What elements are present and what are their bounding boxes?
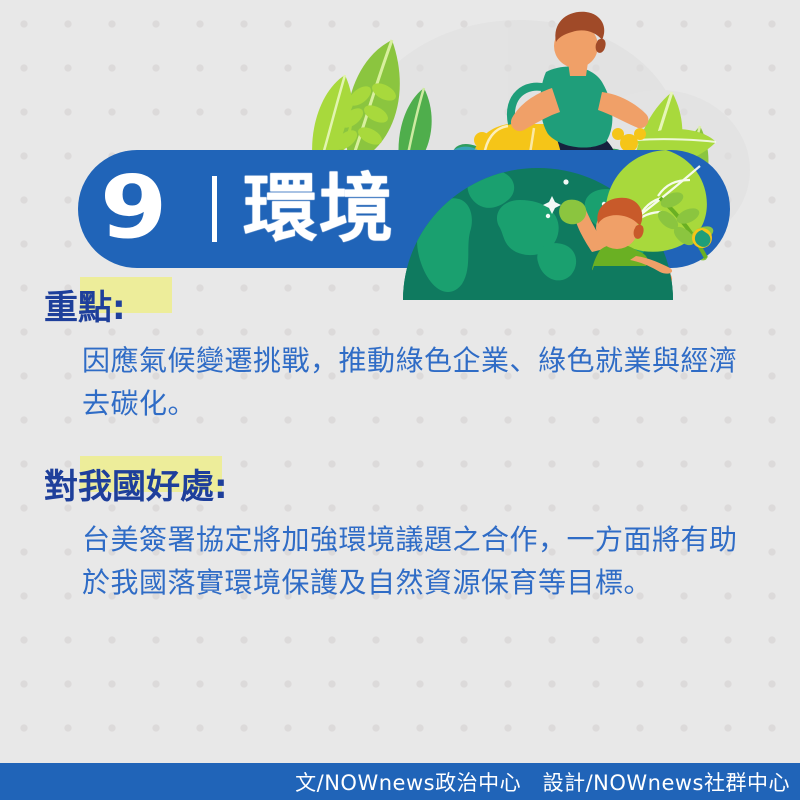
heading-benefits: 對我國好處:: [44, 464, 228, 510]
section-benefits: 對我國好處: 台美簽署協定將加強環境議題之合作，一方面將有助於我國落實環境保護及…: [0, 464, 800, 604]
footer-bar: 文/NOWnews政治中心 設計/NOWnews社群中心: [0, 763, 800, 800]
heading-key-points-wrap: 重點:: [44, 285, 126, 331]
paragraph-benefits: 台美簽署協定將加強環境議題之合作，一方面將有助於我國落實環境保護及自然資源保育等…: [82, 518, 762, 604]
heading-key-points: 重點:: [44, 285, 126, 331]
infographic-card: 9 環境: [0, 0, 800, 800]
heading-benefits-wrap: 對我國好處:: [44, 464, 228, 510]
content-area: 重點: 因應氣候變遷挑戰，推動綠色企業、綠色就業與經濟去碳化。 對我國好處: 台…: [0, 285, 800, 604]
section-key-points: 重點: 因應氣候變遷挑戰，推動綠色企業、綠色就業與經濟去碳化。: [0, 285, 800, 425]
section-banner: [78, 150, 730, 268]
paragraph-key-points: 因應氣候變遷挑戰，推動綠色企業、綠色就業與經濟去碳化。: [82, 339, 762, 425]
footer-credit: 文/NOWnews政治中心 設計/NOWnews社群中心: [295, 767, 800, 797]
